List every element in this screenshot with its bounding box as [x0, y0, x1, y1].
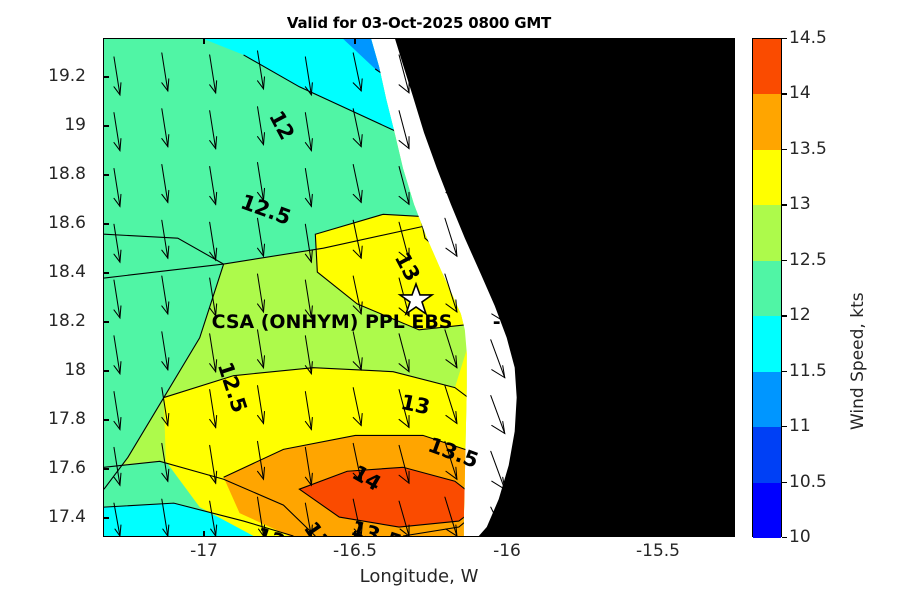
ytick-label: 18.6: [30, 213, 86, 233]
ytick-mark: [729, 272, 735, 274]
colorbar-band: [753, 205, 781, 260]
colorbar-tick: [782, 482, 787, 483]
colorbar-tick: [782, 38, 787, 39]
colorbar-band: [753, 316, 781, 371]
colorbar-tick: [782, 315, 787, 316]
wind-speed-colorbar[interactable]: [752, 38, 782, 537]
ytick-mark: [729, 517, 735, 519]
colorbar-tick-label: 13.5: [789, 139, 827, 159]
ytick-mark: [729, 76, 735, 78]
colorbar-tick: [782, 537, 787, 538]
x-axis-title: Longitude, W: [103, 566, 735, 587]
colorbar-band: [753, 483, 781, 539]
ytick-label: 18: [30, 360, 86, 380]
ytick-mark: [729, 419, 735, 421]
colorbar-tick: [782, 371, 787, 372]
ytick-label: 17.8: [30, 409, 86, 429]
ytick-mark: [103, 174, 109, 176]
colorbar-tick: [782, 426, 787, 427]
xtick-mark: [657, 38, 659, 44]
ytick-label: 18.8: [30, 164, 86, 184]
xtick-label: -16.5: [315, 541, 395, 561]
wind-speed-contour-figure: Valid for 03-Oct-2025 0800 GMT: [0, 0, 900, 600]
xtick-mark: [354, 531, 356, 537]
colorbar-tick-label: 12: [789, 305, 811, 325]
map-plot-area[interactable]: 12 12.5 11 12 11.5 12.5 13 12.5 13 13.5 …: [103, 38, 735, 537]
colorbar-tick: [782, 204, 787, 205]
xtick-mark: [657, 531, 659, 537]
colorbar-tick-label: 11.5: [789, 361, 827, 381]
xtick-mark: [203, 531, 205, 537]
colorbar-title: Wind Speed, kts: [848, 292, 868, 430]
ytick-label: 17.4: [30, 507, 86, 527]
ytick-mark: [729, 125, 735, 127]
ytick-mark: [729, 468, 735, 470]
colorbar-tick-label: 10.5: [789, 472, 827, 492]
ytick-mark: [103, 125, 109, 127]
ytick-label: 18.4: [30, 262, 86, 282]
colorbar-tick: [782, 149, 787, 150]
ytick-mark: [103, 223, 109, 225]
ytick-mark: [729, 174, 735, 176]
ytick-mark: [103, 419, 109, 421]
site-label-text: CSA (ONHYM) PPL EBS: [212, 311, 453, 333]
xtick-label: -17: [164, 541, 244, 561]
ytick-label: 19: [30, 115, 86, 135]
ytick-mark: [729, 223, 735, 225]
ytick-mark: [729, 321, 735, 323]
colorbar-tick-label: 14: [789, 83, 811, 103]
colorbar-band: [753, 150, 781, 205]
ytick-mark: [103, 272, 109, 274]
colorbar-tick-label: 11: [789, 416, 811, 436]
ytick-mark: [103, 370, 109, 372]
xtick-mark: [506, 531, 508, 537]
colorbar-tick-label: 12.5: [789, 250, 827, 270]
wind-speed-field: 12 12.5 11 12 11.5 12.5 13 12.5 13 13.5 …: [104, 39, 734, 536]
xtick-mark: [354, 38, 356, 44]
colorbar-tick: [782, 93, 787, 94]
figure-title: Valid for 03-Oct-2025 0800 GMT: [103, 14, 735, 32]
ytick-label: 18.2: [30, 311, 86, 331]
colorbar-band: [753, 94, 781, 149]
site-label-trailing: -: [493, 311, 501, 333]
colorbar-band: [753, 39, 781, 94]
colorbar-band: [753, 372, 781, 427]
colorbar-tick-label: 10: [789, 527, 811, 547]
ytick-mark: [103, 76, 109, 78]
colorbar-band: [753, 427, 781, 482]
colorbar-tick-label: 14.5: [789, 28, 827, 48]
xtick-mark: [506, 38, 508, 44]
ytick-mark: [103, 321, 109, 323]
colorbar-tick-label: 13: [789, 194, 811, 214]
ytick-label: 17.6: [30, 458, 86, 478]
ytick-label: 19.2: [30, 66, 86, 86]
ytick-mark: [729, 370, 735, 372]
xtick-label: -15.5: [618, 541, 698, 561]
colorbar-band: [753, 261, 781, 316]
xtick-mark: [203, 38, 205, 44]
ytick-mark: [103, 517, 109, 519]
colorbar-tick: [782, 260, 787, 261]
xtick-label: -16: [467, 541, 547, 561]
ytick-mark: [103, 468, 109, 470]
